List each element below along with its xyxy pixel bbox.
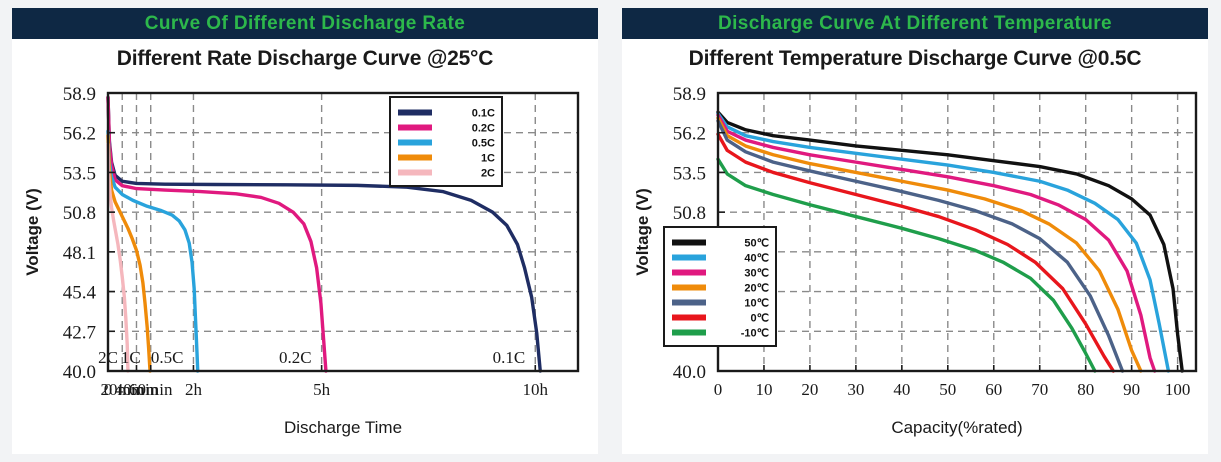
legend-label-50: 50℃: [744, 238, 769, 250]
legend-label-0: 0℃: [751, 313, 769, 325]
panel-header-right-text: Discharge Curve At Different Temperature: [718, 13, 1112, 35]
panel-temperature: Discharge Curve At Different Temperature…: [622, 8, 1208, 454]
panel-header-left: Curve Of Different Discharge Rate: [12, 8, 598, 39]
curve-20: [718, 118, 1141, 371]
y-tick-label: 48.1: [63, 243, 96, 264]
legend-label-0.5C: 0.5C: [472, 138, 495, 150]
y-tick-label: 58.9: [63, 84, 96, 105]
curve-end-label-2C: 2C: [98, 348, 118, 367]
x-tick-label: 80: [1077, 380, 1094, 399]
y-tick-label: 56.2: [63, 124, 96, 145]
legend-label-1C: 1C: [481, 153, 495, 165]
y-axis-label: Voltage (V): [633, 188, 652, 276]
y-tick-label: 40.0: [63, 362, 96, 383]
x-tick-label: 10h: [523, 380, 549, 399]
panel-discharge-rate: Curve Of Different Discharge Rate Differ…: [12, 8, 598, 454]
curve-end-label-1C: 1C: [121, 348, 141, 367]
x-tick-label: 2h: [185, 380, 203, 399]
y-tick-label: 42.7: [63, 322, 96, 343]
y-tick-label: 53.5: [63, 163, 96, 184]
plot-frame: [108, 93, 578, 371]
legend-label-2C: 2C: [481, 168, 495, 180]
x-tick-label: 5h: [313, 380, 331, 399]
x-tick-label: 0: [714, 380, 723, 399]
chart-right-svgwrap: 58.956.253.550.848.145.442.740.001020304…: [622, 75, 1208, 454]
x-tick-label: 60min: [129, 380, 173, 399]
legend-label-0.2C: 0.2C: [472, 123, 495, 135]
x-tick-label: 90: [1123, 380, 1140, 399]
legend-label-10: 10℃: [744, 298, 769, 310]
chart-title-right: Different Temperature Discharge Curve @0…: [622, 47, 1208, 71]
x-tick-label: 10: [755, 380, 772, 399]
x-tick-label: 20: [801, 380, 818, 399]
panel-body-left: Different Rate Discharge Curve @25°C 58.…: [12, 39, 598, 454]
x-tick-label: 60: [985, 380, 1002, 399]
chart-right: 58.956.253.550.848.145.442.740.001020304…: [622, 75, 1208, 454]
panel-body-right: Different Temperature Discharge Curve @0…: [622, 39, 1208, 454]
x-axis-label: Capacity(%rated): [891, 418, 1022, 437]
x-tick-label: 70: [1031, 380, 1048, 399]
y-tick-label: 40.0: [673, 362, 706, 383]
panel-header-left-text: Curve Of Different Discharge Rate: [145, 13, 465, 35]
charts-board: Curve Of Different Discharge Rate Differ…: [0, 0, 1221, 462]
panel-header-right: Discharge Curve At Different Temperature: [622, 8, 1208, 39]
legend-label--10: -10℃: [741, 328, 769, 340]
curve-0.2C: [108, 97, 326, 371]
y-axis-label: Voltage (V): [23, 188, 42, 276]
curve-40: [718, 114, 1168, 371]
x-tick-label: 100: [1165, 380, 1191, 399]
chart-left-svgwrap: 58.956.253.550.848.145.442.740.0020min40…: [12, 75, 598, 454]
curve-0.5C: [108, 131, 198, 371]
curve-10: [718, 121, 1122, 371]
legend-label-30: 30℃: [744, 268, 769, 280]
chart-left: 58.956.253.550.848.145.442.740.0020min40…: [12, 75, 598, 454]
y-tick-label: 50.8: [63, 203, 96, 224]
chart-title-left: Different Rate Discharge Curve @25°C: [12, 47, 598, 71]
legend-label-0.1C: 0.1C: [472, 108, 495, 120]
y-tick-label: 56.2: [673, 124, 706, 145]
y-tick-label: 53.5: [673, 163, 706, 184]
x-tick-label: 30: [847, 380, 864, 399]
x-tick-label: 40: [893, 380, 910, 399]
y-tick-label: 50.8: [673, 203, 706, 224]
y-tick-label: 58.9: [673, 84, 706, 105]
x-axis-label: Discharge Time: [284, 418, 402, 437]
curve-end-label-0.1C: 0.1C: [493, 348, 526, 367]
curve-end-label-0.2C: 0.2C: [279, 348, 312, 367]
legend-label-40: 40℃: [744, 253, 769, 265]
x-tick-label: 50: [939, 380, 956, 399]
legend-label-20: 20℃: [744, 283, 769, 295]
y-tick-label: 45.4: [63, 283, 97, 304]
curve-end-label-0.5C: 0.5C: [151, 348, 184, 367]
